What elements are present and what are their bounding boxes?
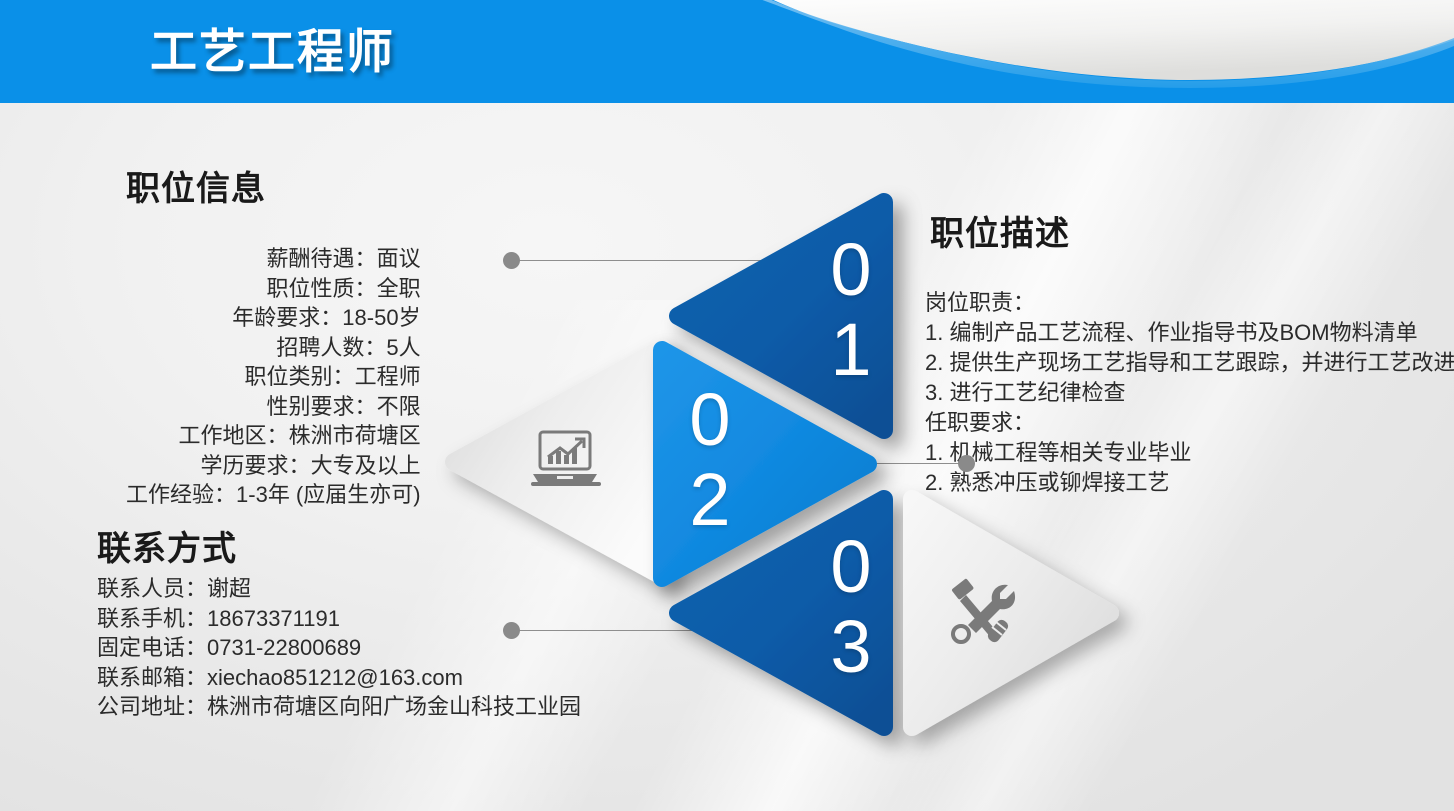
job-info-row: 年龄要求：18-50岁 — [126, 303, 421, 333]
job-info-label: 性别要求： — [267, 394, 377, 419]
job-description-heading: 职位描述 — [930, 206, 1070, 255]
job-description-line: 岗位职责： — [925, 288, 1454, 318]
job-info-value: 全职 — [377, 276, 421, 301]
job-description-line: 1. 编制产品工艺流程、作业指导书及BOM物料清单 — [925, 318, 1454, 348]
connector-dot-middle — [958, 455, 975, 472]
job-info-value: 大专及以上 — [311, 453, 421, 478]
contact-row: 公司地址：株洲市荷塘区向阳广场金山科技工业园 — [97, 692, 581, 722]
laptop-growth-chart-icon — [530, 430, 602, 490]
job-info-value: 5人 — [386, 335, 420, 360]
contact-label: 联系人员： — [97, 576, 207, 601]
triangle-chart-icon — [448, 338, 664, 586]
contact-value: 株洲市荷塘区向阳广场金山科技工业园 — [207, 694, 581, 719]
contact-list: 联系人员：谢超联系手机：18673371191固定电话：0731-2280068… — [97, 574, 581, 722]
contact-value: 0731-22800689 — [207, 635, 361, 660]
contact-label: 公司地址： — [97, 694, 207, 719]
job-info-heading: 职位信息 — [126, 161, 266, 210]
job-info-label: 职位类别： — [245, 364, 355, 389]
hammer-wrench-screwdriver-icon — [948, 579, 1022, 647]
contact-label: 联系邮箱： — [97, 665, 207, 690]
connector-dot-bottom — [503, 622, 520, 639]
triangle-shape-darkblue-left-03 — [668, 487, 896, 739]
job-info-row: 职位类别：工程师 — [126, 362, 421, 392]
job-info-list: 薪酬待遇：面议职位性质：全职年龄要求：18-50岁招聘人数：5人职位类别：工程师… — [126, 244, 421, 510]
job-info-value: 株洲市荷塘区 — [289, 423, 421, 448]
job-info-value: 不限 — [377, 394, 421, 419]
job-info-row: 招聘人数：5人 — [126, 333, 421, 363]
job-info-value: 面议 — [377, 246, 421, 271]
job-info-value: 工程师 — [355, 364, 421, 389]
header-underline — [0, 95, 1454, 103]
contact-label: 联系手机： — [97, 606, 207, 631]
job-description-line: 2. 提供生产现场工艺指导和工艺跟踪，并进行工艺改进 — [925, 348, 1454, 378]
contact-label: 固定电话： — [97, 635, 207, 660]
job-info-row: 工作经验：1-3年 (应届生亦可) — [126, 480, 421, 510]
contact-value: 18673371191 — [207, 606, 340, 631]
job-info-value: 18-50岁 — [342, 305, 420, 330]
job-info-label: 年龄要求： — [232, 305, 342, 330]
page-title: 工艺工程师 — [150, 13, 395, 82]
header-bar: 工艺工程师 — [0, 0, 1454, 95]
job-info-label: 工作地区： — [179, 423, 289, 448]
connector-dot-top — [503, 252, 520, 269]
job-info-row: 薪酬待遇：面议 — [126, 244, 421, 274]
job-description-line: 3. 进行工艺纪律检查 — [925, 378, 1454, 408]
triangle-03[interactable]: 0 3 — [668, 487, 896, 739]
contact-value: 谢超 — [207, 576, 251, 601]
job-info-value: 1-3年 (应届生亦可) — [236, 482, 421, 507]
job-description-line: 任职要求： — [925, 408, 1454, 438]
job-info-row: 学历要求：大专及以上 — [126, 451, 421, 481]
job-info-row: 职位性质：全职 — [126, 274, 421, 304]
job-info-label: 工作经验： — [126, 482, 236, 507]
job-info-row: 性别要求：不限 — [126, 392, 421, 422]
contact-heading: 联系方式 — [97, 521, 237, 570]
slide-canvas: 工艺工程师 职位信息 薪酬待遇：面议职位性质：全职年龄要求：18-50岁招聘人数… — [0, 0, 1454, 811]
job-info-label: 招聘人数： — [276, 335, 386, 360]
job-info-label: 薪酬待遇： — [267, 246, 377, 271]
job-info-label: 职位性质： — [267, 276, 377, 301]
job-description-line: 1. 机械工程等相关专业毕业 — [925, 438, 1454, 468]
job-info-row: 工作地区：株洲市荷塘区 — [126, 421, 421, 451]
job-description-list: 岗位职责：1. 编制产品工艺流程、作业指导书及BOM物料清单2. 提供生产现场工… — [925, 288, 1454, 498]
contact-row: 联系邮箱：xiechao851212@163.com — [97, 663, 581, 693]
contact-value: xiechao851212@163.com — [207, 665, 463, 690]
job-info-label: 学历要求： — [201, 453, 311, 478]
triangle-tools-icon — [900, 487, 1120, 739]
